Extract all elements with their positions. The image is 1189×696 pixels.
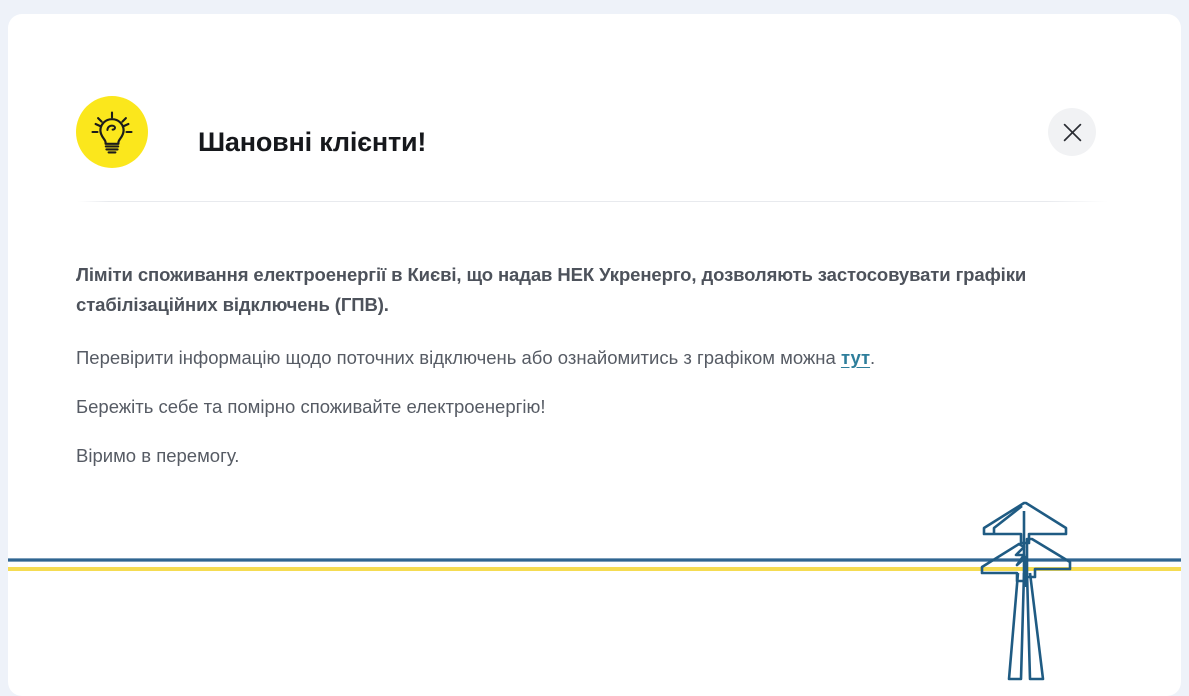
paragraph-lead: Ліміти споживання електроенергії в Києві… [76, 260, 1096, 320]
paragraph-victory: Віримо в перемогу. [76, 441, 1096, 471]
modal-body: Ліміти споживання електроенергії в Києві… [76, 260, 1096, 471]
lightbulb-icon [76, 96, 148, 168]
schedule-link[interactable]: тут [841, 347, 870, 368]
page-title: Шановні клієнти! [198, 124, 426, 160]
paragraph-check-info-prefix: Перевірити інформацію щодо поточних відк… [76, 347, 841, 368]
close-icon [1063, 123, 1082, 142]
close-button[interactable] [1048, 108, 1096, 156]
paragraph-check-info-suffix: . [870, 347, 875, 368]
power-pylon-illustration [8, 491, 1181, 696]
paragraph-take-care: Бережіть себе та помірно споживайте елек… [76, 392, 1096, 422]
modal-header: Шановні клієнти! [8, 14, 1181, 202]
announcement-modal: Шановні клієнти! Ліміти споживання елект… [8, 14, 1181, 696]
header-divider [78, 201, 1108, 202]
pylon-outline [982, 503, 1070, 679]
paragraph-check-info: Перевірити інформацію щодо поточних відк… [76, 343, 1096, 373]
